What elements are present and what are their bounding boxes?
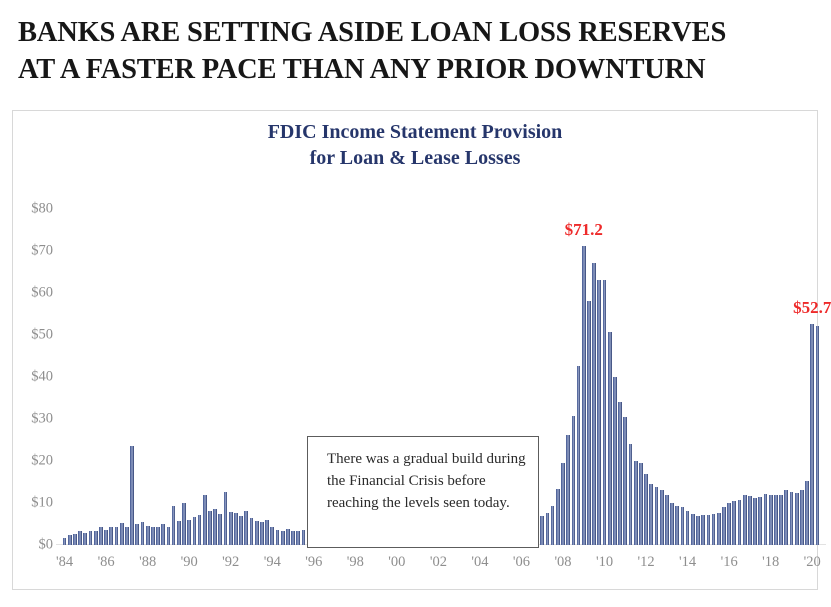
bar <box>753 498 757 545</box>
x-axis-tick-label: '94 <box>264 554 281 571</box>
bar <box>732 501 736 545</box>
bar <box>291 531 295 545</box>
x-axis-tick-label: '10 <box>596 554 613 571</box>
bar <box>561 463 565 545</box>
bar <box>790 492 794 545</box>
y-axis-tick-label: $0 <box>39 537 54 554</box>
bar <box>187 520 191 545</box>
headline-line-2: AT A FASTER PACE THAN ANY PRIOR DOWNTURN <box>18 51 818 88</box>
x-axis-tick-label: '86 <box>98 554 115 571</box>
bar <box>779 495 783 545</box>
chart-title-line-2: for Loan & Lease Losses <box>13 145 817 171</box>
bar <box>758 497 762 545</box>
bar <box>774 495 778 545</box>
y-axis-tick-label: $30 <box>31 410 53 427</box>
chart-card: FDIC Income Statement Provision for Loan… <box>12 110 818 590</box>
bar <box>104 530 108 545</box>
x-axis-tick-label: '08 <box>554 554 571 571</box>
bar <box>681 507 685 545</box>
bar <box>712 514 716 545</box>
bar <box>78 531 82 545</box>
page-headline: BANKS ARE SETTING ASIDE LOAN LOSS RESERV… <box>18 14 818 88</box>
bar <box>582 246 586 545</box>
x-axis-tick-label: '92 <box>222 554 239 571</box>
bar <box>743 495 747 545</box>
bar <box>198 515 202 545</box>
bar <box>151 527 155 545</box>
bar <box>302 530 306 545</box>
chart-title-line-1: FDIC Income Statement Provision <box>13 119 817 145</box>
bar <box>784 490 788 545</box>
bar <box>660 490 664 545</box>
x-axis-tick-label: '02 <box>430 554 447 571</box>
bar <box>597 280 601 545</box>
y-axis-tick-label: $20 <box>31 452 53 469</box>
bar <box>592 263 596 545</box>
x-axis-tick-label: '12 <box>638 554 655 571</box>
bar <box>655 487 659 545</box>
annotation-box: There was a gradual build during the Fin… <box>307 436 539 548</box>
bar <box>686 511 690 545</box>
bar <box>177 521 181 545</box>
bar <box>551 506 555 545</box>
y-axis-tick-label: $40 <box>31 368 53 385</box>
bar <box>208 511 212 545</box>
bar <box>141 522 145 545</box>
y-axis-tick-label: $50 <box>31 326 53 343</box>
bar <box>800 490 804 545</box>
bar <box>167 527 171 545</box>
bar <box>613 377 617 545</box>
bar <box>260 522 264 545</box>
bar <box>566 435 570 545</box>
bar <box>250 518 254 545</box>
bar <box>234 513 238 545</box>
x-axis-tick-label: '84 <box>56 554 73 571</box>
bar <box>276 530 280 545</box>
bar <box>603 280 607 545</box>
bar <box>135 524 139 545</box>
bar <box>540 516 544 545</box>
bar <box>146 526 150 545</box>
bar <box>99 527 103 545</box>
bar <box>649 484 653 545</box>
x-axis-tick-label: '00 <box>388 554 405 571</box>
bar <box>270 527 274 545</box>
bar <box>193 517 197 545</box>
bar <box>286 529 290 545</box>
bar <box>727 503 731 545</box>
bar <box>608 332 612 546</box>
bar <box>213 509 217 545</box>
bar <box>94 531 98 545</box>
x-axis-tick-label: '16 <box>721 554 738 571</box>
chart-title: FDIC Income Statement Provision for Loan… <box>13 119 817 171</box>
bar <box>795 493 799 545</box>
bar <box>639 463 643 545</box>
bar <box>618 402 622 545</box>
bar <box>89 531 93 545</box>
bar <box>634 461 638 545</box>
bar <box>665 495 669 545</box>
headline-line-1: BANKS ARE SETTING ASIDE LOAN LOSS RESERV… <box>18 14 818 51</box>
bar <box>109 527 113 545</box>
bar <box>229 512 233 545</box>
bar <box>182 503 186 545</box>
bar <box>63 538 67 545</box>
bar <box>239 516 243 545</box>
annotation-text: There was a gradual build during the Fin… <box>327 451 526 511</box>
bar <box>675 506 679 546</box>
value-callout: $71.2 <box>565 220 603 240</box>
bar <box>120 523 124 545</box>
y-axis-tick-label: $10 <box>31 494 53 511</box>
bar <box>172 506 176 546</box>
x-axis-tick-label: '96 <box>305 554 322 571</box>
bar <box>546 513 550 545</box>
bar <box>587 301 591 545</box>
bar <box>691 514 695 545</box>
bar <box>670 503 674 545</box>
bar <box>224 492 228 545</box>
bar <box>805 481 809 545</box>
bar <box>810 324 814 545</box>
y-axis-tick-label: $60 <box>31 284 53 301</box>
x-axis-tick-label: '90 <box>181 554 198 571</box>
bar <box>203 495 207 545</box>
bar <box>125 527 129 545</box>
bar <box>644 474 648 545</box>
bar <box>696 516 700 545</box>
bar <box>161 524 165 545</box>
bar <box>556 489 560 545</box>
bar <box>707 515 711 545</box>
bar <box>738 500 742 545</box>
y-axis-tick-label: $80 <box>31 200 53 217</box>
bar <box>296 531 300 545</box>
bar <box>130 446 134 545</box>
x-axis-tick-label: '04 <box>471 554 488 571</box>
bar <box>769 495 773 545</box>
bar <box>572 416 576 545</box>
bar <box>629 444 633 545</box>
bar <box>265 520 269 545</box>
bar <box>577 366 581 545</box>
y-axis-tick-label: $70 <box>31 242 53 259</box>
bar <box>722 507 726 545</box>
x-axis-tick-label: '18 <box>762 554 779 571</box>
bar <box>115 527 119 545</box>
x-axis-tick-label: '06 <box>513 554 530 571</box>
bar <box>73 534 77 545</box>
x-axis-tick-label: '20 <box>804 554 821 571</box>
bar <box>748 496 752 545</box>
bar <box>218 514 222 545</box>
bar <box>83 533 87 545</box>
bar <box>255 521 259 545</box>
bar <box>816 326 820 545</box>
x-axis-tick-label: '98 <box>347 554 364 571</box>
bar <box>701 515 705 545</box>
bar <box>244 511 248 545</box>
x-axis-tick-label: '88 <box>139 554 156 571</box>
bar <box>623 417 627 545</box>
bar <box>156 527 160 545</box>
value-callout: $52.7 <box>793 298 831 318</box>
bar <box>68 535 72 545</box>
bar <box>281 531 285 545</box>
x-axis-tick-label: '14 <box>679 554 696 571</box>
bar <box>764 494 768 545</box>
bar <box>717 513 721 545</box>
